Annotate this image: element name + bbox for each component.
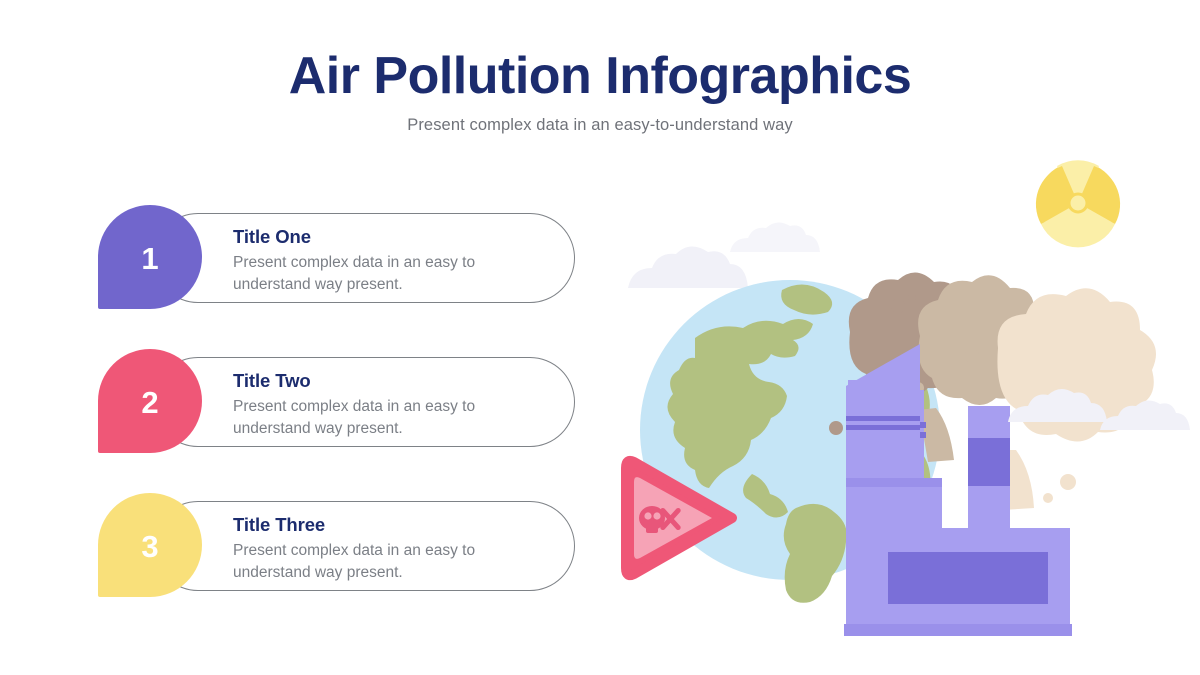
list-item-description: Present complex data in an easy to under… bbox=[233, 252, 553, 296]
list-item-description: Present complex data in an easy to under… bbox=[233, 396, 553, 440]
page-subtitle: Present complex data in an easy-to-under… bbox=[0, 116, 1200, 135]
list-item-text: Title One Present complex data in an eas… bbox=[233, 226, 553, 296]
infographic-list: 1 Title One Present complex data in an e… bbox=[98, 205, 598, 598]
list-item-text: Title Three Present complex data in an e… bbox=[233, 514, 553, 584]
list-item[interactable]: 1 Title One Present complex data in an e… bbox=[98, 205, 598, 310]
air-pollution-illustration bbox=[600, 140, 1200, 675]
list-item-description: Present complex data in an easy to under… bbox=[233, 540, 553, 584]
list-item[interactable]: 3 Title Three Present complex data in an… bbox=[98, 493, 598, 598]
list-item-badge-2[interactable]: 2 bbox=[98, 349, 202, 453]
sky-cloud-icon bbox=[730, 222, 820, 252]
list-item-title: Title Two bbox=[233, 370, 553, 392]
slide-header: Air Pollution Infographics Present compl… bbox=[0, 48, 1200, 135]
slide-canvas: Air Pollution Infographics Present compl… bbox=[0, 0, 1200, 675]
badge-number: 2 bbox=[141, 387, 158, 418]
list-item-title: Title Three bbox=[233, 514, 553, 536]
list-item[interactable]: 2 Title Two Present complex data in an e… bbox=[98, 349, 598, 454]
list-item-badge-3[interactable]: 3 bbox=[98, 493, 202, 597]
list-item-badge-1[interactable]: 1 bbox=[98, 205, 202, 309]
sky-cloud-icon bbox=[628, 246, 748, 288]
badge-number: 3 bbox=[141, 531, 158, 562]
radiation-sun-icon bbox=[1036, 160, 1120, 247]
list-item-text: Title Two Present complex data in an eas… bbox=[233, 370, 553, 440]
badge-number: 1 bbox=[141, 243, 158, 274]
page-title: Air Pollution Infographics bbox=[0, 48, 1200, 104]
list-item-title: Title One bbox=[233, 226, 553, 248]
